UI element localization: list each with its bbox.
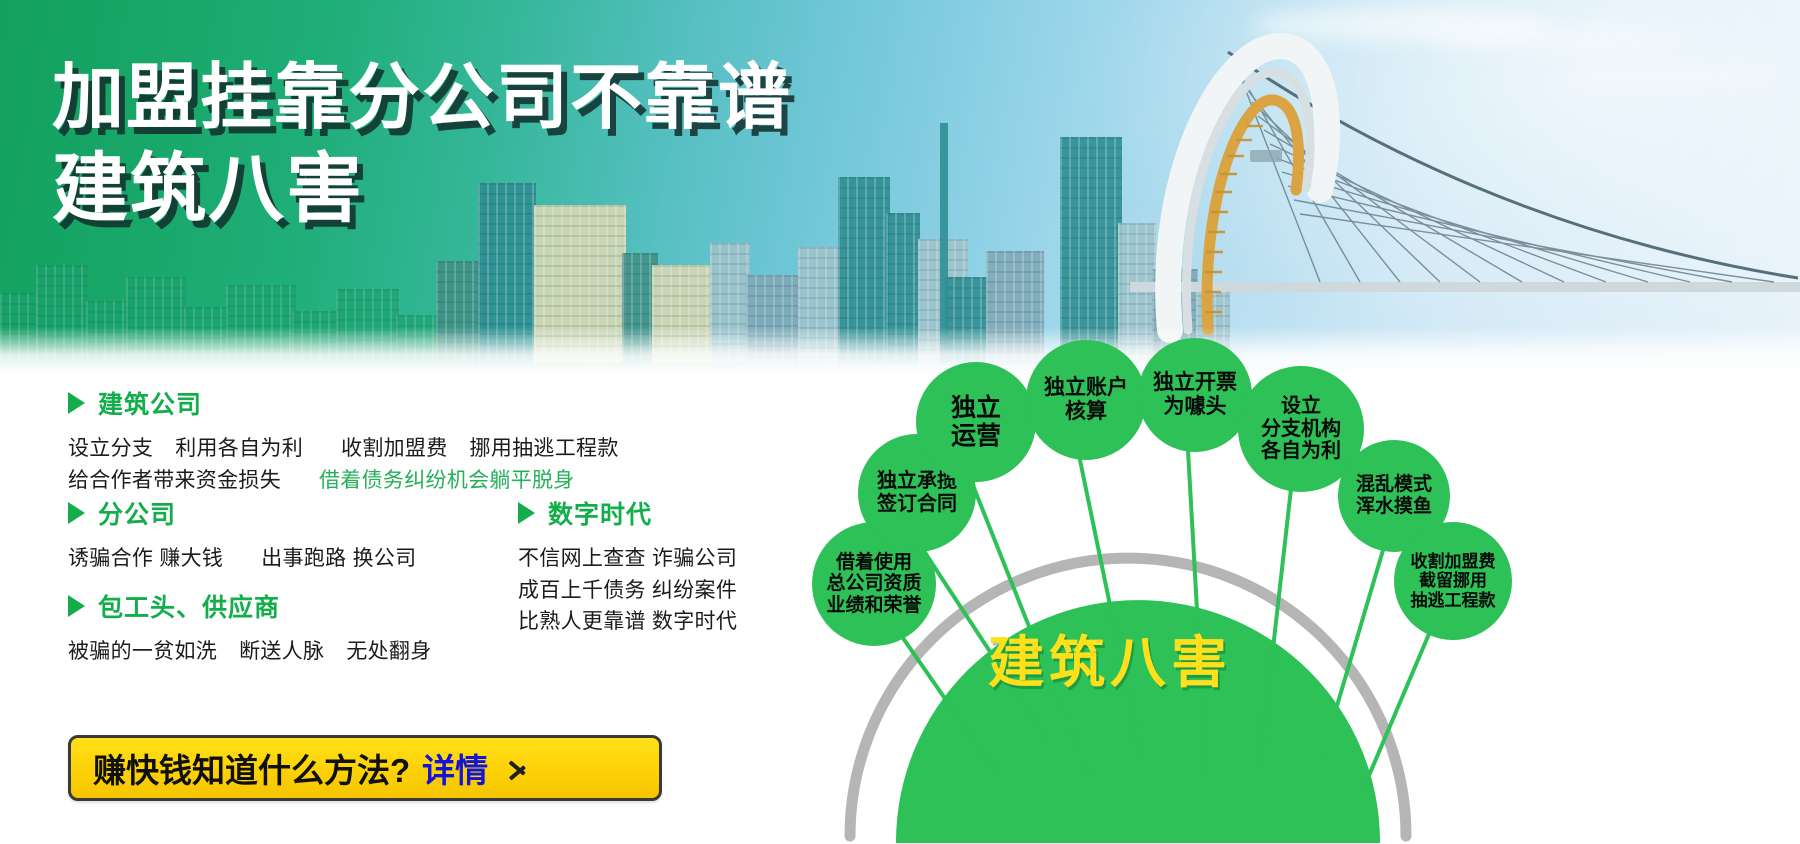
bubble-item[interactable]: 独立开票 为噱头 [1138,338,1252,452]
section-title: 建筑公司 [98,385,202,421]
section-body-line: 不信网上查查 诈骗公司 [518,543,737,575]
text-fragment: 被骗的一贫如洗 [68,640,217,663]
section-body-line: 诱骗合作 赚大钱出事跑路 换公司 [68,543,416,575]
cta-question-text: 赚快钱知道什么方法? [93,744,410,792]
triangle-bullet-icon [68,595,85,617]
dome-center-label: 建筑八害 [988,618,1232,699]
text-fragment: 收割加盟费 [341,437,448,460]
section-heading: 建筑公司 [68,385,619,421]
bubble-text-line: 各自为利 [1261,440,1341,463]
bridge-illustration [1130,30,1800,350]
bubble-text-line: 核算 [1044,400,1128,424]
text-fragment: 设立分支 [68,437,153,460]
section-heading: 包工头、供应商 [68,588,432,624]
hero-title: 加盟挂靠分公司不靠谱 建筑八害 [52,58,792,232]
text-fragment: 无处翻身 [346,640,431,663]
section-branch-company: 分公司 诱骗合作 赚大钱出事跑路 换公司 [68,495,416,575]
triangle-bullet-icon [518,502,535,524]
text-fragment: 挪用抽逃工程款 [470,437,619,460]
text-fragment-highlight: 借着债务纠纷机会躺平脱身 [319,469,575,492]
bubble-text-line: 混乱模式 [1356,474,1432,496]
hero-banner: 加盟挂靠分公司不靠谱 建筑八害 [0,0,1800,373]
bubble-text-line: 签订合同 [877,493,957,516]
section-heading: 分公司 [68,495,416,531]
section-body-line: 比熟人更靠谱 数字时代 [518,606,737,638]
cta-button[interactable]: 赚快钱知道什么方法? 详情 [68,735,662,801]
section-contractor-supplier: 包工头、供应商 被骗的一贫如洗断送人脉无处翻身 [68,588,432,668]
bubble-text-line: 独立开票 [1153,371,1237,395]
bubble-text-line: 截留挪用 [1411,571,1496,590]
section-body-line: 给合作者带来资金损失借着债务纠纷机会躺平脱身 [68,465,619,497]
bubble-diagram: 借着使用 总公司资质 业绩和荣誉 独立承揽 签订合同 独立 运营 独立账户 核算 [790,340,1800,844]
bubble-text-line: 独立 [951,394,1001,423]
bubble-text-line: 收割加盟费 [1411,552,1496,571]
section-digital-era: 数字时代 不信网上查查 诈骗公司 成百上千债务 纠纷案件 比熟人更靠谱 数字时代 [518,495,737,638]
bubble-text-line: 业绩和荣誉 [826,595,921,617]
section-heading: 数字时代 [518,495,737,531]
text-fragment: 利用各自为利 [175,437,303,460]
bubble-item[interactable]: 独立 运营 [916,362,1036,482]
section-body-line: 设立分支利用各自为利收割加盟费挪用抽逃工程款 [68,433,619,465]
section-title: 数字时代 [548,495,652,531]
section-body-line: 被骗的一贫如洗断送人脉无处翻身 [68,636,432,668]
text-fragment: 出事跑路 换公司 [261,547,416,570]
section-body-line: 成百上千债务 纠纷案件 [518,575,737,607]
bubble-text-line: 独立账户 [1044,376,1128,400]
bubble-text-line: 运营 [951,422,1001,451]
bubble-item[interactable]: 独立账户 核算 [1026,340,1146,460]
text-fragment: 诱骗合作 赚大钱 [68,547,223,570]
bubble-text-line: 为噱头 [1153,395,1237,419]
text-fragment: 断送人脉 [239,640,324,663]
bubble-text-line: 总公司资质 [826,573,921,595]
bubble-text-line: 抽逃工程款 [1411,591,1496,610]
bubble-text-line: 浑水摸鱼 [1356,496,1432,518]
triangle-bullet-icon [68,392,85,414]
triangle-bullet-icon [68,502,85,524]
bubble-text-line: 分支机构 [1261,418,1341,441]
section-title: 包工头、供应商 [98,588,280,624]
poster-root: 加盟挂靠分公司不靠谱 建筑八害 建筑公司 设立分支利用各自为利收割加盟费挪用抽逃… [0,0,1800,844]
cta-details-link[interactable]: 详情 [422,744,488,792]
section-construction-company: 建筑公司 设立分支利用各自为利收割加盟费挪用抽逃工程款 给合作者带来资金损失借着… [68,385,619,496]
hero-title-line-2: 建筑八害 [52,147,792,232]
hero-title-line-1: 加盟挂靠分公司不靠谱 [52,58,792,139]
section-title: 分公司 [98,495,176,531]
bubble-text-line: 设立 [1261,395,1341,418]
bubble-text-line: 借着使用 [826,552,921,574]
chevron-right-icon [508,751,530,785]
bubble-item[interactable]: 收割加盟费 截留挪用 抽逃工程款 [1394,522,1512,640]
text-fragment: 给合作者带来资金损失 [68,469,281,492]
